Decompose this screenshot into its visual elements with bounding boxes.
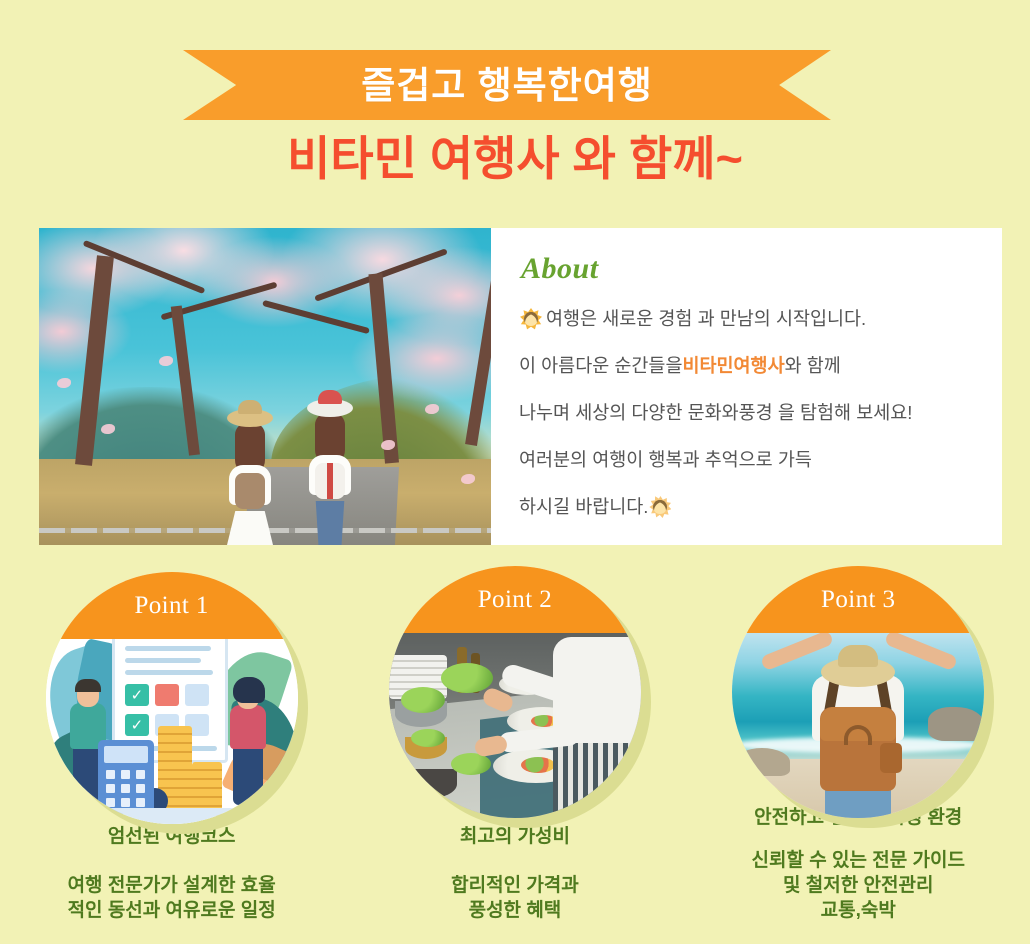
calculator-key xyxy=(136,784,145,793)
brand-highlight: 비타민여행사 xyxy=(682,357,784,376)
backpack-icon xyxy=(235,473,265,509)
backpack-pocket xyxy=(880,743,902,773)
about-line: 나누며 세상의 다양한 문화와풍경 을 탐험해 보세요! xyxy=(519,396,978,430)
ribbon-text: 즐겁고 행복한여행 xyxy=(361,67,653,104)
calculator-key xyxy=(106,784,115,793)
point-circle-wrap: Point 1 xyxy=(46,572,298,785)
raised-arm xyxy=(884,633,958,671)
point-card-1: Point 1 xyxy=(0,566,343,944)
point-caption-body: 여행 전문가가 설계한 효율 적인 동선과 여유로운 일정 xyxy=(68,874,276,923)
point-header: Point 3 xyxy=(732,566,984,633)
about-line-text: 하시길 바랍니다. xyxy=(519,498,648,517)
about-line: 여행은 새로운 경험 과 만남의 시작입니다. xyxy=(519,302,978,336)
about-photo xyxy=(39,228,491,545)
point-header: Point 1 xyxy=(46,572,298,639)
about-line-text: 이 아름다운 순간들을 xyxy=(519,357,682,376)
point-image: ✓ ✓ xyxy=(46,639,298,824)
beach-traveler-photo xyxy=(732,633,984,818)
point-label: Point 3 xyxy=(821,587,895,612)
rock-icon xyxy=(734,748,790,776)
calculator-key xyxy=(136,770,145,779)
promo-page: 즐겁고 행복한여행 비타민 여행사 와 함께~ xyxy=(0,0,1030,944)
about-heading: About xyxy=(521,252,978,286)
check-icon: ✓ xyxy=(131,686,144,704)
rock-icon xyxy=(928,707,984,741)
about-line: 하시길 바랍니다. xyxy=(519,490,978,524)
person-hair xyxy=(75,679,101,692)
about-line-text: 여행은 새로운 경험 과 만남의 시작입니다. xyxy=(546,310,866,329)
about-line-text: 나누며 세상의 다양한 문화와풍경 을 탐험해 보세요! xyxy=(519,404,912,423)
check-icon: ✓ xyxy=(131,716,144,734)
traveler-figure xyxy=(307,399,353,545)
about-line-text-tail: 와 함께 xyxy=(785,357,841,376)
about-line-text: 여러분의 여행이 행복과 추억으로 가득 xyxy=(519,451,812,470)
salad-bowl-icon xyxy=(395,769,457,799)
chef-apron xyxy=(553,743,641,818)
person-body xyxy=(230,705,266,749)
plated-food xyxy=(521,757,555,773)
ribbon-shape: 즐겁고 행복한여행 xyxy=(183,50,831,120)
board-line xyxy=(125,658,201,663)
calculator-key xyxy=(121,770,130,779)
lettuce-icon xyxy=(441,663,493,693)
ground-strip xyxy=(46,808,298,824)
lettuce-icon xyxy=(401,687,445,713)
board-line xyxy=(125,670,213,675)
person-legs xyxy=(233,745,263,805)
point-label: Point 2 xyxy=(478,587,552,612)
point-circle: Point 3 xyxy=(732,566,984,818)
calculator-key xyxy=(136,798,145,807)
straw-hat-icon xyxy=(227,409,273,427)
lettuce-icon xyxy=(411,729,445,747)
point-circle: Point 1 xyxy=(46,572,298,824)
checkbox-cell: ✓ xyxy=(125,684,149,706)
about-body: 여행은 새로운 경험 과 만남의 시작입니다. 이 아름다운 순간들을 비타민여… xyxy=(519,302,978,524)
point-caption-body: 합리적인 가격과 풍성한 혜택 xyxy=(451,874,579,923)
about-line: 여러분의 여행이 행복과 추억으로 가득 xyxy=(519,443,978,477)
point-header: Point 2 xyxy=(389,566,641,633)
ribbon-banner: 즐겁고 행복한여행 xyxy=(183,50,831,120)
point-card-3: Point 3 xyxy=(687,566,1030,944)
point-caption-body: 신뢰할 수 있는 전문 가이드 및 철저한 안전관리 교통,숙박 xyxy=(752,849,965,923)
point-circle-wrap: Point 3 xyxy=(732,566,984,764)
points-section: Point 1 xyxy=(0,566,1030,944)
point-card-2: Point 2 xyxy=(343,566,686,944)
checkbox-cell xyxy=(185,684,209,706)
sun-flower-icon xyxy=(519,307,543,331)
calculator-key xyxy=(106,770,115,779)
point-circle: Point 2 xyxy=(389,566,641,818)
traveler-figure xyxy=(227,409,273,545)
skirt xyxy=(227,511,273,545)
smiling-sun-icon xyxy=(648,495,672,519)
calculator-screen xyxy=(104,746,148,763)
checkbox-cell: ✓ xyxy=(125,714,149,736)
calculator-icon xyxy=(98,740,154,814)
about-card: About 여행은 새로운 경험 과 만남의 시작입니다. 이 아름다운 순간들… xyxy=(491,228,1002,545)
point-circle-wrap: Point 2 xyxy=(389,566,641,769)
calculator-key xyxy=(121,798,130,807)
straw-hat-icon xyxy=(821,657,895,687)
bucket-hat-icon xyxy=(307,399,353,417)
point-label: Point 1 xyxy=(134,593,208,618)
backpack-icon xyxy=(315,463,345,499)
person-hair xyxy=(233,677,265,703)
point-image xyxy=(389,633,641,818)
page-title: 비타민 여행사 와 함께~ xyxy=(0,131,1030,187)
about-line: 이 아름다운 순간들을 비타민여행사와 함께 xyxy=(519,349,978,383)
jeans xyxy=(313,501,347,545)
point-image xyxy=(732,633,984,818)
checkbox-cell xyxy=(155,684,179,706)
point-caption-head: 최고의 가성비 xyxy=(451,825,579,850)
board-line xyxy=(125,646,211,651)
branch-icon xyxy=(262,300,370,334)
checklist-illustration: ✓ ✓ xyxy=(46,639,298,824)
kitchen-plating-photo xyxy=(389,633,641,818)
calculator-key xyxy=(106,798,115,807)
calculator-key xyxy=(121,784,130,793)
about-section: About 여행은 새로운 경험 과 만남의 시작입니다. 이 아름다운 순간들… xyxy=(39,228,1002,545)
lettuce-icon xyxy=(451,753,491,775)
